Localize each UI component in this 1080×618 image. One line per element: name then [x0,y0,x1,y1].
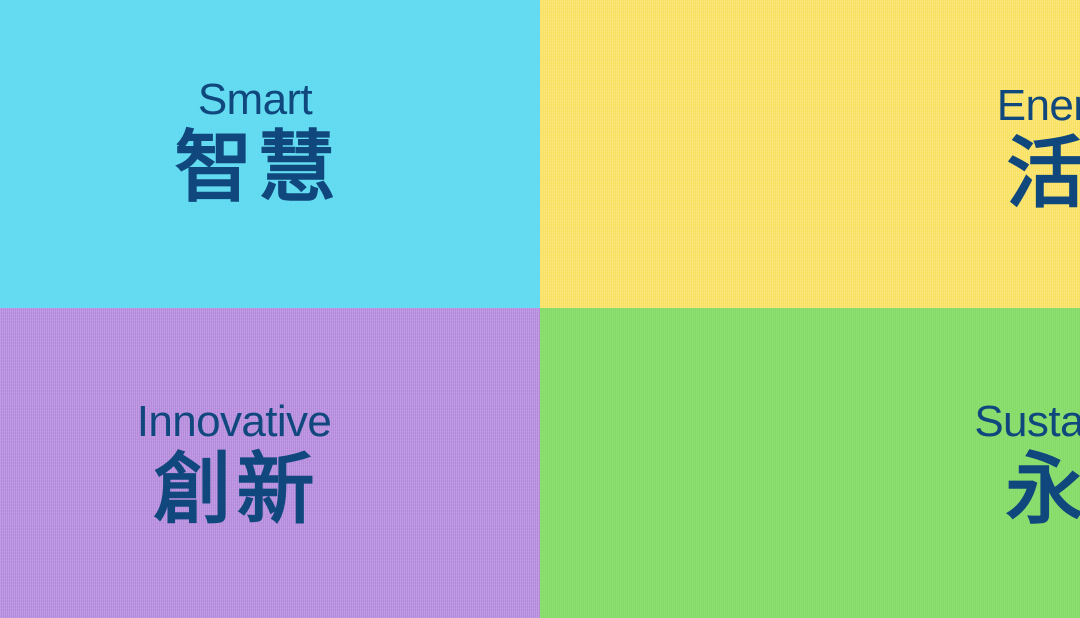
quadrant-innovative-content: Innovative 創新 [137,400,332,528]
quadrant-innovative-label-en: Innovative [137,400,332,444]
quadrant-innovative-label-zh: 創新 [148,450,319,528]
quadrant-sustainable[interactable]: Sustainable 永續 [540,308,1080,618]
quadrant-innovative[interactable]: Innovative 創新 [0,308,540,618]
quadrant-smart-label-en: Smart [198,78,312,122]
quadrant-energetic-label-en: Energetic [997,84,1080,128]
brand-values-grid: Smart 智慧 Energetic 活力 Innovative 創新 Sust… [0,0,1080,618]
quadrant-energetic[interactable]: Energetic 活力 [540,0,1080,308]
quadrant-sustainable-content: Sustainable 永續 [974,400,1080,528]
quadrant-sustainable-label-zh: 永續 [1000,450,1080,528]
quadrant-smart-label-zh: 智慧 [169,128,340,206]
quadrant-smart-content: Smart 智慧 [169,78,340,206]
quadrant-energetic-content: Energetic 活力 [997,84,1080,212]
quadrant-energetic-label-zh: 活力 [1001,134,1080,212]
quadrant-smart[interactable]: Smart 智慧 [0,0,540,308]
quadrant-sustainable-label-en: Sustainable [974,400,1080,444]
